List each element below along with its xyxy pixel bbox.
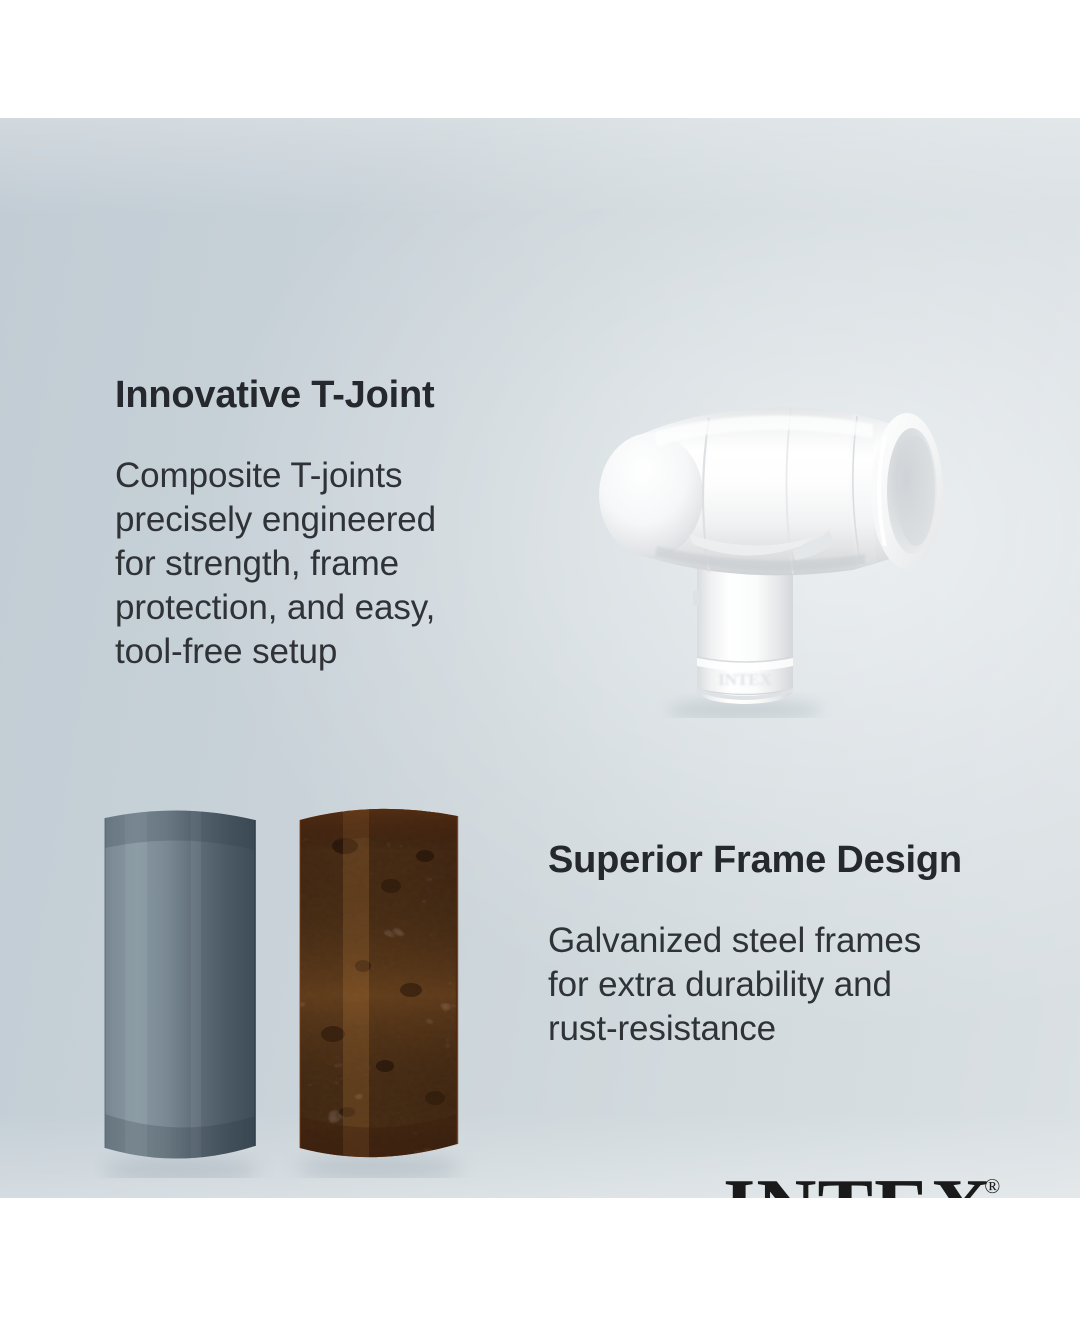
body-line: rust-resistance bbox=[548, 1007, 1018, 1051]
body-line: for extra durability and bbox=[548, 963, 1018, 1007]
rusted-pipe-sample bbox=[290, 798, 470, 1178]
body-line: Galvanized steel frames bbox=[548, 919, 1018, 963]
feature-block-frame: Superior Frame Design Galvanized steel f… bbox=[548, 841, 1018, 1051]
t-joint-product-image: INTEX bbox=[585, 358, 975, 718]
t-joint-embossed-logo: INTEX bbox=[718, 670, 773, 689]
pipe-comparison-image bbox=[95, 798, 475, 1178]
content-panel: Innovative T-Joint Composite T-joints pr… bbox=[0, 118, 1080, 1198]
product-feature-image: Innovative T-Joint Composite T-joints pr… bbox=[0, 0, 1080, 1319]
body-line: precisely engineered bbox=[115, 498, 535, 542]
feature-headline-frame: Superior Frame Design bbox=[548, 841, 1018, 881]
body-line: protection, and easy, bbox=[115, 586, 535, 630]
t-joint-open-bore bbox=[871, 413, 943, 569]
intex-brand-logo: INTEX ® bbox=[723, 1168, 1000, 1198]
body-line: Composite T-joints bbox=[115, 454, 535, 498]
galvanized-pipe-sample bbox=[95, 798, 270, 1178]
feature-body-frame: Galvanized steel frames for extra durabi… bbox=[548, 919, 1018, 1051]
logo-wordmark: INTEX bbox=[723, 1168, 992, 1198]
feature-body-t-joint: Composite T-joints precisely engineered … bbox=[115, 454, 535, 674]
pipe-comparison-illustration bbox=[95, 798, 475, 1178]
feature-block-t-joint: Innovative T-Joint Composite T-joints pr… bbox=[115, 376, 535, 674]
rusted-pipe-shadow bbox=[297, 1155, 461, 1178]
body-line: for strength, frame bbox=[115, 542, 535, 586]
galvanized-pipe-shadow bbox=[103, 1157, 259, 1178]
t-joint-left-cap bbox=[599, 433, 703, 557]
t-joint-illustration: INTEX bbox=[585, 358, 975, 718]
feature-headline-t-joint: Innovative T-Joint bbox=[115, 376, 535, 416]
body-line: tool-free setup bbox=[115, 630, 535, 674]
